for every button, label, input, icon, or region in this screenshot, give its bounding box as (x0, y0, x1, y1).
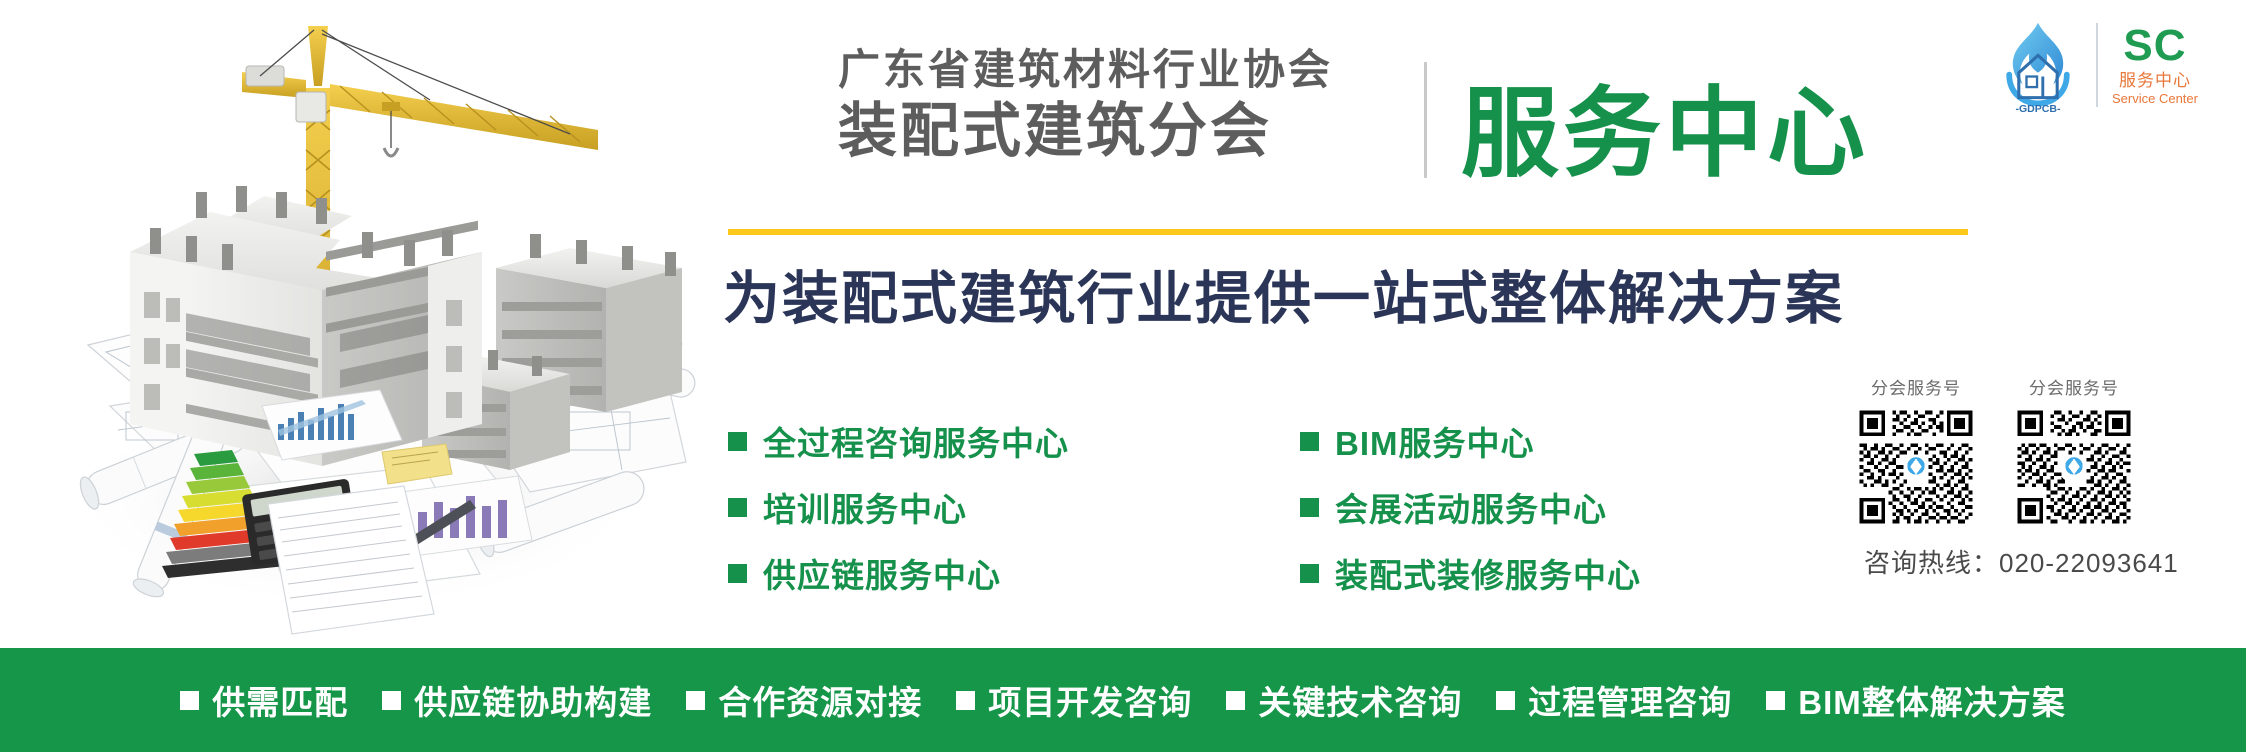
brand-cn-text: 服务中心 (2119, 70, 2191, 91)
qr-label: 分会服务号 (2014, 378, 2134, 400)
hotline-text: 咨询热线：020-22093641 (1856, 543, 2246, 580)
service-item[interactable]: 会展活动服务中心 (1300, 474, 1641, 540)
service-item-label: 培训服务中心 (763, 483, 967, 531)
footer-item[interactable]: 合作资源对接 (686, 676, 922, 724)
gdpcb-house-flame-icon: -GDPCB- (1990, 17, 2086, 113)
title-vertical-divider (1424, 62, 1427, 178)
svg-text:-GDPCB-: -GDPCB- (2015, 103, 2061, 113)
service-item[interactable]: 装配式装修服务中心 (1300, 540, 1641, 606)
service-item[interactable]: 全过程咨询服务中心 (728, 408, 1069, 474)
footer-item-label: BIM整体解决方案 (1798, 676, 2066, 724)
brand-wordmark: SC 服务中心 Service Center (2112, 24, 2198, 107)
square-bullet-icon (728, 498, 747, 517)
form-document (268, 486, 434, 634)
square-bullet-icon (1766, 691, 1785, 710)
footer-capability-bar: 供需匹配 供应链协助构建 合作资源对接 项目开发咨询 关键技术咨询 过程管理咨询… (0, 648, 2246, 752)
square-bullet-icon (1226, 691, 1245, 710)
footer-item-label: 过程管理咨询 (1528, 676, 1732, 724)
service-item[interactable]: 供应链服务中心 (728, 540, 1069, 606)
footer-item-label: 供需匹配 (212, 676, 348, 724)
footer-item-label: 关键技术咨询 (1258, 676, 1462, 724)
square-bullet-icon (1300, 564, 1319, 583)
square-bullet-icon (382, 691, 401, 710)
footer-item[interactable]: 关键技术咨询 (1226, 676, 1462, 724)
footer-item-label: 项目开发咨询 (988, 676, 1192, 724)
service-item-label: 装配式装修服务中心 (1335, 549, 1641, 597)
square-bullet-icon (686, 691, 705, 710)
organization-title: 广东省建筑材料行业协会 装配式建筑分会 (838, 44, 1398, 166)
square-bullet-icon (180, 691, 199, 710)
qr-entry: 分会服务号 (1856, 378, 1976, 527)
qr-pair: 分会服务号 (1856, 378, 2246, 527)
brand-divider (2096, 23, 2098, 107)
square-bullet-icon (956, 691, 975, 710)
square-bullet-icon (1496, 691, 1515, 710)
footer-item-label: 合作资源对接 (718, 676, 922, 724)
footer-item[interactable]: 供应链协助构建 (382, 676, 652, 724)
service-item-label: BIM服务中心 (1335, 417, 1535, 465)
square-bullet-icon (1300, 498, 1319, 517)
square-bullet-icon (728, 432, 747, 451)
service-item-label: 供应链服务中心 (763, 549, 1001, 597)
org-title-line1: 广东省建筑材料行业协会 (838, 44, 1398, 96)
qr-label: 分会服务号 (1856, 378, 1976, 400)
square-bullet-icon (1300, 432, 1319, 451)
qr-code-icon[interactable] (1856, 407, 1976, 527)
footer-item[interactable]: 项目开发咨询 (956, 676, 1192, 724)
service-item[interactable]: BIM服务中心 (1300, 408, 1641, 474)
footer-item[interactable]: BIM整体解决方案 (1766, 676, 2066, 724)
footer-item[interactable]: 过程管理咨询 (1496, 676, 1732, 724)
qr-contact-block: 分会服务号 (1856, 378, 2246, 580)
brand-logo: -GDPCB- SC 服务中心 Service Center (1990, 14, 2240, 116)
brand-sc-text: SC (2123, 24, 2186, 68)
service-item-label: 全过程咨询服务中心 (763, 417, 1069, 465)
construction-illustration (10, 0, 700, 648)
service-list-right: BIM服务中心 会展活动服务中心 装配式装修服务中心 (1300, 408, 1641, 606)
service-center-heading: 服务中心 (1461, 78, 1869, 188)
yellow-divider-rule (728, 229, 1968, 235)
footer-item[interactable]: 供需匹配 (180, 676, 348, 724)
promo-banner: 广东省建筑材料行业协会 装配式建筑分会 服务中心 为装配式建筑行业提供一站式整体… (0, 0, 2246, 752)
page-tagline: 为装配式建筑行业提供一站式整体解决方案 (723, 264, 1844, 334)
footer-item-label: 供应链协助构建 (414, 676, 652, 724)
square-bullet-icon (728, 564, 747, 583)
qr-entry: 分会服务号 (2014, 378, 2134, 527)
service-item-label: 会展活动服务中心 (1335, 483, 1607, 531)
org-title-line2: 装配式建筑分会 (838, 96, 1398, 166)
brand-en-text: Service Center (2112, 91, 2198, 107)
service-list-left: 全过程咨询服务中心 培训服务中心 供应链服务中心 (728, 408, 1069, 606)
qr-code-icon[interactable] (2014, 407, 2134, 527)
service-item[interactable]: 培训服务中心 (728, 474, 1069, 540)
